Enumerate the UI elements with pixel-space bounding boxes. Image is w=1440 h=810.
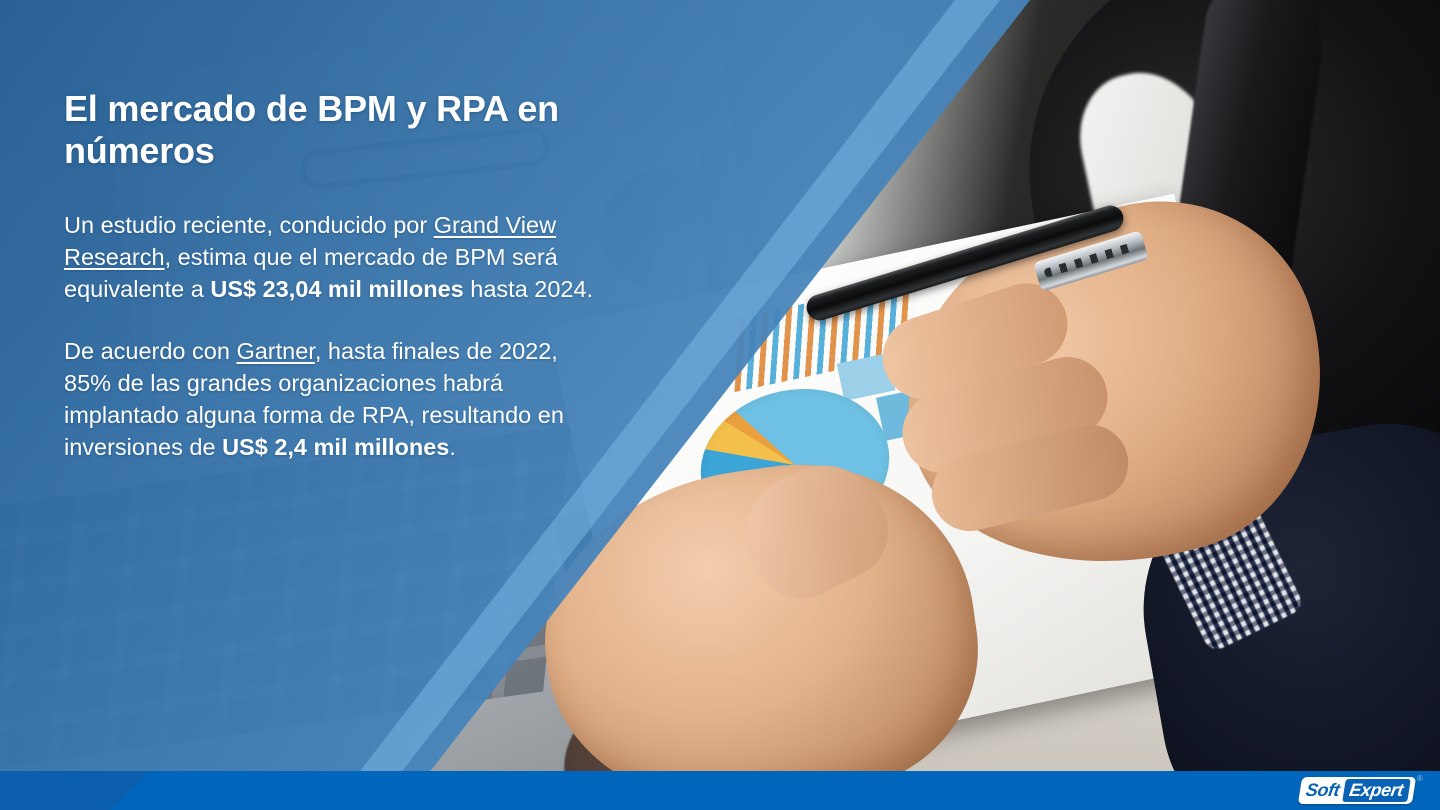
logo-word-soft: Soft bbox=[1304, 780, 1346, 801]
logo-word-expert: Expert bbox=[1343, 779, 1411, 802]
presentation-slide: El mercado de BPM y RPA en números Un es… bbox=[0, 0, 1440, 810]
logo-plate: Soft Expert ® bbox=[1298, 777, 1416, 804]
source-link[interactable]: Gartner bbox=[236, 338, 314, 364]
highlight-value: US$ 23,04 mil millones bbox=[210, 276, 463, 302]
paragraph-container: Un estudio reciente, conducido por Grand… bbox=[64, 210, 604, 464]
footer-bar bbox=[0, 771, 1440, 810]
softexpert-logo[interactable]: Soft Expert ® bbox=[1300, 775, 1428, 805]
body-text: . bbox=[449, 434, 456, 460]
body-text: De acuerdo con bbox=[64, 338, 236, 364]
body-text: Un estudio reciente, conducido por bbox=[64, 212, 434, 238]
paragraph-2: De acuerdo con Gartner, hasta finales de… bbox=[64, 336, 604, 464]
registered-trademark-icon: ® bbox=[1417, 774, 1423, 783]
paragraph-1: Un estudio reciente, conducido por Grand… bbox=[64, 210, 604, 306]
page-title: El mercado de BPM y RPA en números bbox=[64, 88, 604, 172]
highlight-value: US$ 2,4 mil millones bbox=[222, 434, 449, 460]
slide-content: El mercado de BPM y RPA en números Un es… bbox=[64, 88, 604, 464]
body-text: hasta 2024. bbox=[464, 276, 593, 302]
